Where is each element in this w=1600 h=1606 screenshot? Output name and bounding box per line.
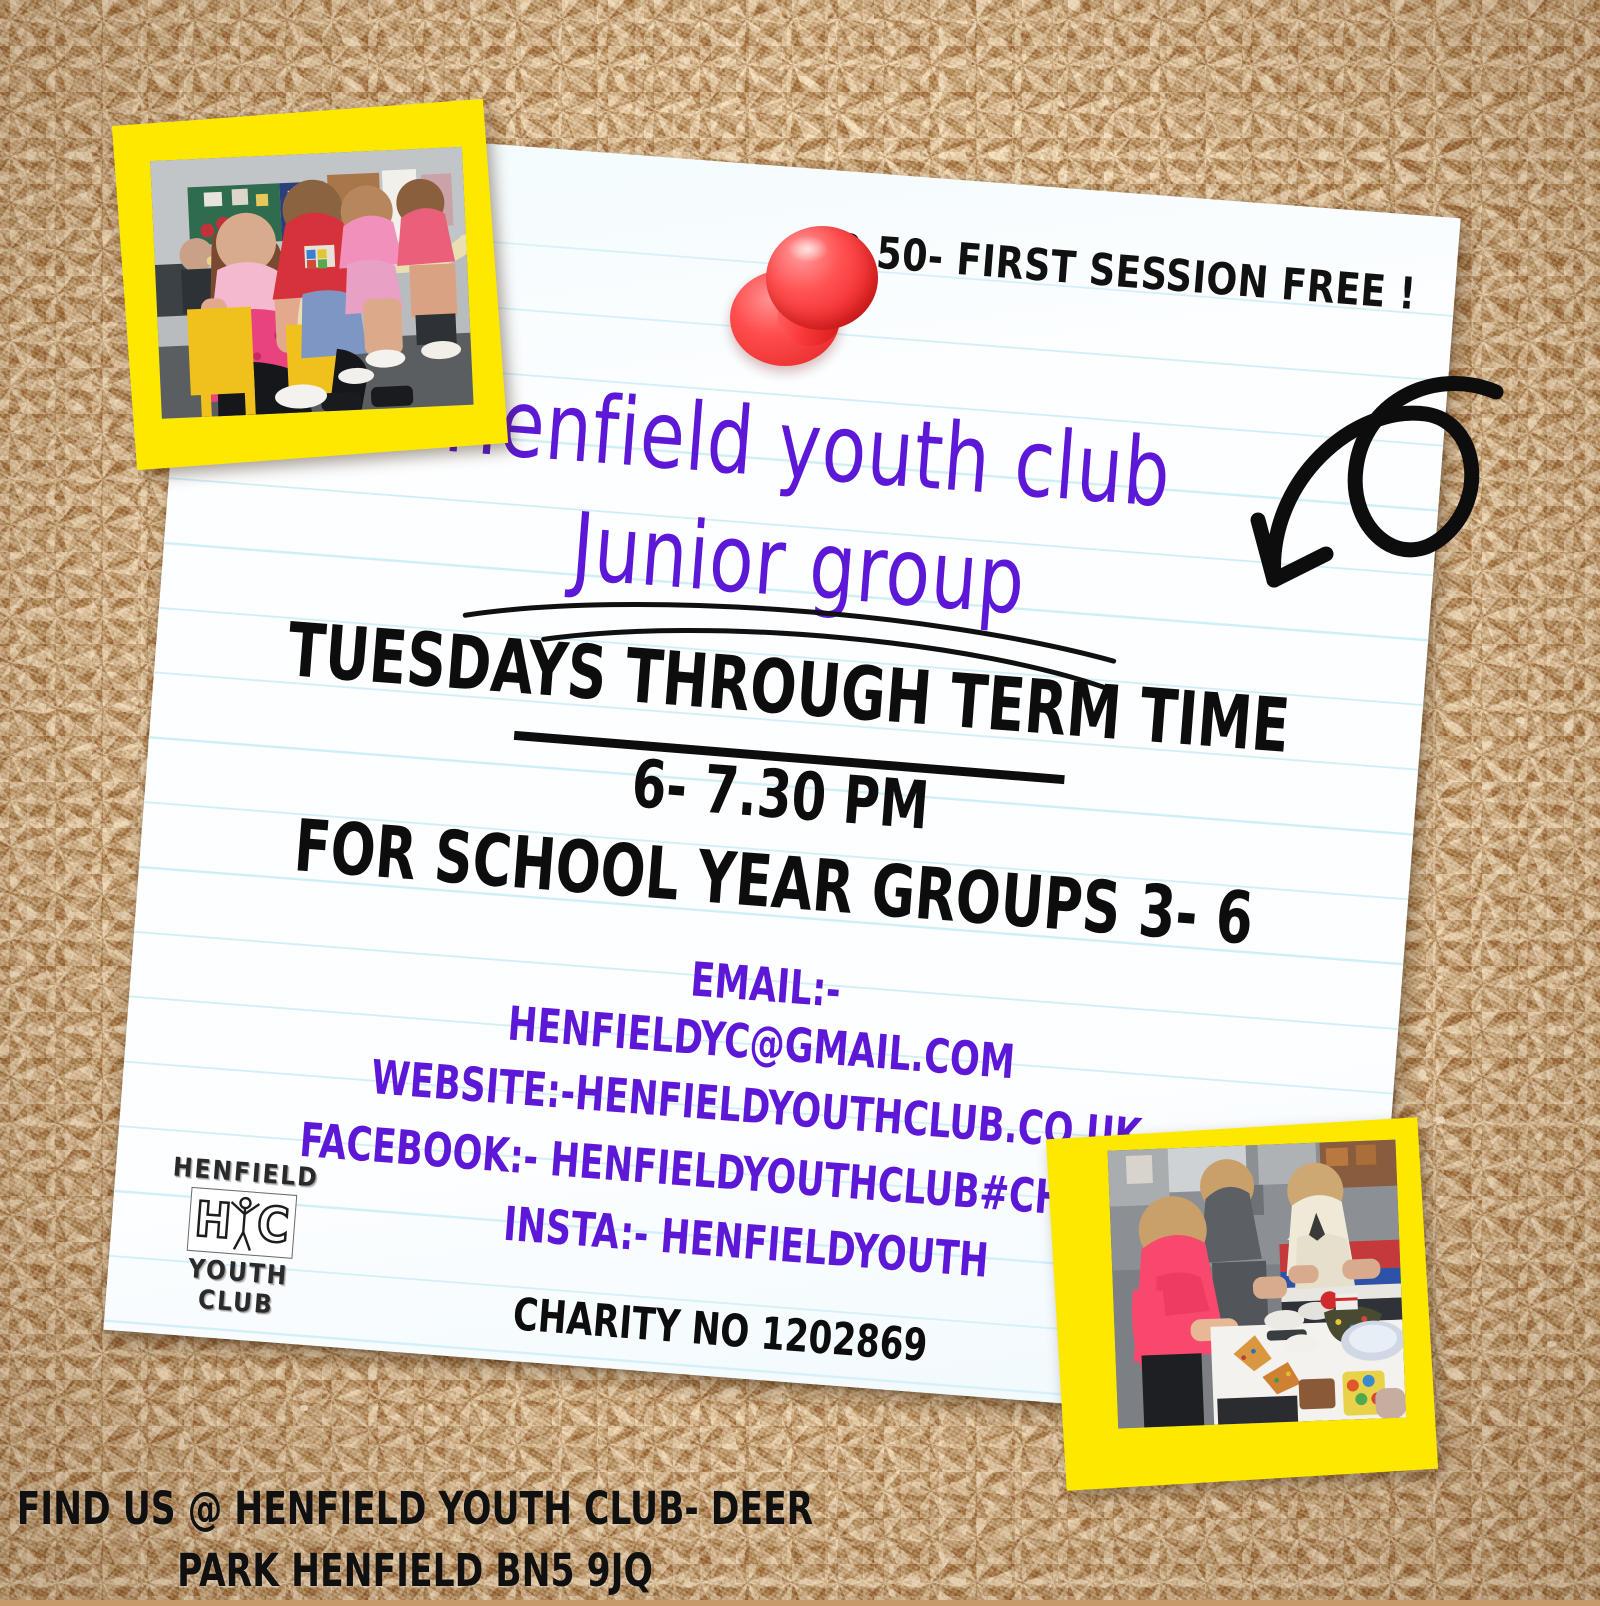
pushpin-highlight <box>788 236 828 262</box>
logo-letter-c: C <box>255 1197 291 1253</box>
photo-snake-session-image <box>150 147 473 419</box>
logo-mark-box: H C <box>187 1187 298 1259</box>
footer-address-line-2: PARK HENFIELD BN5 9JQ <box>17 1536 814 1606</box>
red-pushpin <box>722 226 882 376</box>
photo-craft-session <box>1046 1117 1438 1490</box>
photo-craft-session-image <box>1108 1140 1406 1429</box>
photo-snake-session <box>112 99 508 470</box>
footer-address-line-1: FIND US @ HENFIELD YOUTH CLUB- DEER <box>17 1474 814 1545</box>
arrow-loop-doodle <box>1026 330 1496 610</box>
footer-address: FIND US @ HENFIELD YOUTH CLUB- DEER PARK… <box>0 1478 830 1602</box>
henfield-youth-club-logo: HENFIELD H C YOUTH CLUB <box>145 1151 337 1324</box>
